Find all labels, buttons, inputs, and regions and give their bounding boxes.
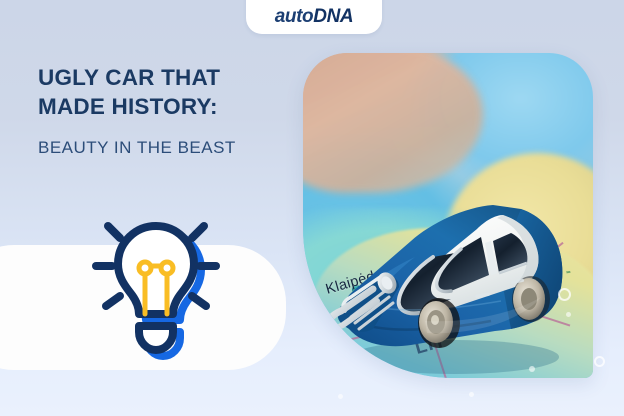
decorative-dot — [529, 366, 535, 372]
page-subtitle: BEAUTY IN THE BEAST — [38, 137, 288, 159]
headline-block: UGLY CAR THAT MADE HISTORY: BEAUTY IN TH… — [38, 64, 288, 159]
title-line-2: MADE HISTORY: — [38, 94, 218, 119]
decorative-dot — [469, 392, 474, 397]
decorative-dot — [566, 312, 571, 317]
photo-image: Klaipėda LIT — [303, 53, 593, 378]
lightbulb-icon — [72, 198, 240, 366]
decorative-dot — [558, 288, 571, 301]
toy-car-image — [315, 171, 583, 376]
logo-text-dna: DNA — [313, 6, 353, 27]
title-line-1: UGLY CAR THAT — [38, 65, 220, 90]
page-title: UGLY CAR THAT MADE HISTORY: — [38, 64, 288, 122]
decorative-dot — [338, 394, 343, 399]
hero-photo: Klaipėda LIT — [303, 53, 593, 378]
decorative-dot — [594, 356, 605, 367]
left-content-column: UGLY CAR THAT MADE HISTORY: BEAUTY IN TH… — [0, 0, 310, 416]
